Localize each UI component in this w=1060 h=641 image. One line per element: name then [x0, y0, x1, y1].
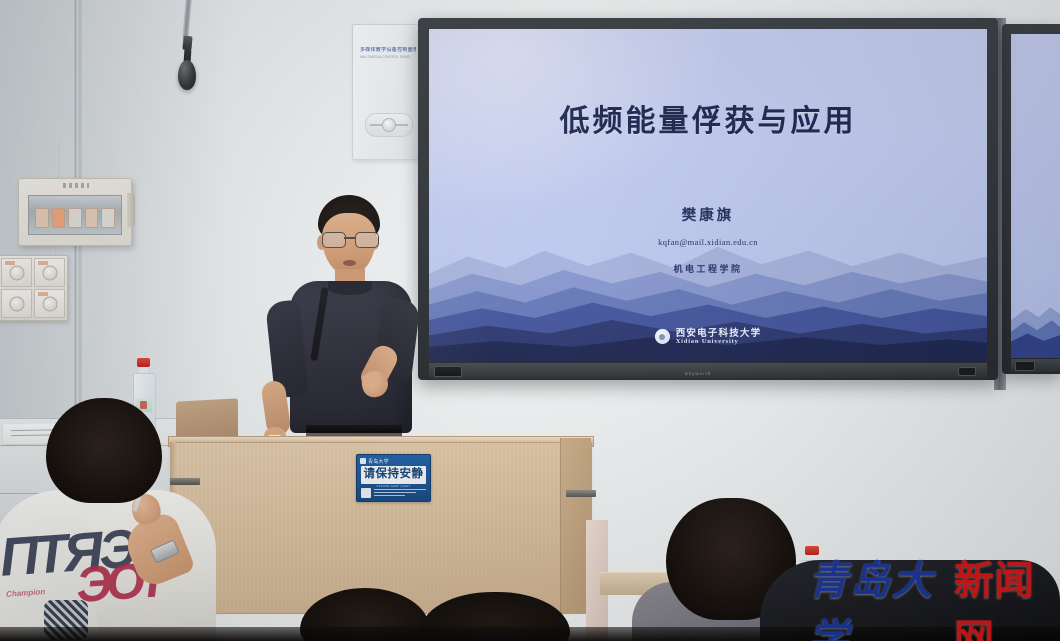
- wall-switch: [1, 258, 32, 287]
- ceiling-microphone-icon: [178, 60, 196, 90]
- slide-author: 樊康旗: [429, 204, 987, 225]
- panel-dial-arm: [370, 124, 408, 126]
- panel-window: [28, 195, 122, 235]
- secondary-mountain-layers: [1011, 260, 1060, 358]
- breaker: [35, 208, 49, 228]
- audience-member-foreground-left: ПТЯЭҮ ЭΟҮ Champion: [0, 398, 220, 641]
- university-emblem-icon: [655, 329, 670, 344]
- breaker: [85, 208, 99, 228]
- notice-line: [374, 489, 426, 491]
- slide-email: kqfan@mail.xidian.edu.cn: [429, 237, 987, 247]
- watermark-newsnet: 新闻网: [954, 548, 1058, 641]
- panel-latch: [127, 193, 135, 227]
- audience-hair: [46, 398, 162, 503]
- switch-bank: [0, 255, 68, 321]
- secondary-display-screen: [1011, 34, 1060, 358]
- notice-emblem-icon: [360, 458, 366, 464]
- control-panel-sublabel: MULTIMEDIA CONTROL PANEL: [360, 55, 416, 59]
- notice-main-banner: 请保持安静: [361, 466, 426, 484]
- presentation-screen: 低频能量俘获与应用 樊康旗 kqfan@mail.xidian.edu.cn 机…: [429, 29, 987, 362]
- circuit-breakers: [35, 208, 115, 228]
- presenter-collar: [328, 281, 372, 295]
- glasses-lens-right: [355, 232, 379, 248]
- notice-line: [374, 495, 405, 497]
- display-brand-label: Skyworth: [685, 371, 712, 376]
- watermark-title-row: 青岛大学 新闻网: [808, 548, 1058, 641]
- breaker: [52, 208, 66, 228]
- display-ir-sensor: [958, 367, 976, 376]
- electrical-panel-box: [18, 178, 132, 246]
- wall-switch: [1, 289, 32, 318]
- main-display[interactable]: 低频能量俘获与应用 樊康旗 kqfan@mail.xidian.edu.cn 机…: [418, 18, 998, 380]
- notice-badge-icon: [361, 488, 371, 498]
- control-panel-label: 多媒体教学设备控制面板: [360, 47, 416, 53]
- finger: [374, 371, 382, 385]
- breaker: [68, 208, 82, 228]
- notice-footer-lines: [374, 489, 426, 497]
- notice-footer: [361, 487, 426, 498]
- breaker: [101, 208, 115, 228]
- glasses-lens-left: [322, 232, 346, 248]
- slide-department: 机电工程学院: [429, 262, 987, 275]
- panel-dial: [365, 113, 413, 137]
- university-logo-text: 西安电子科技大学 Xidian University: [676, 329, 762, 346]
- notice-main-text: 请保持安静: [364, 469, 424, 481]
- university-logo: 西安电子科技大学 Xidian University: [429, 329, 987, 346]
- podium-hinge: [566, 490, 596, 497]
- presenter-glasses: [322, 232, 377, 246]
- news-watermark: 青岛大学 新闻网 http://news.qdu.edu.cn: [808, 548, 1058, 634]
- quiet-notice-sign: 青岛大学 请保持安静 PLEASE KEEP QUIET: [356, 454, 431, 502]
- secondary-display: [1002, 24, 1060, 374]
- wall-switch: [34, 258, 65, 287]
- slide-title: 低频能量俘获与应用: [429, 96, 987, 140]
- wall-switch: [34, 289, 65, 318]
- panel-label: [63, 183, 89, 188]
- presenter-mouth: [343, 260, 356, 266]
- notice-header-text: 青岛大学: [368, 458, 389, 465]
- bottle-cap: [137, 358, 150, 367]
- multimedia-control-panel: 多媒体教学设备控制面板 MULTIMEDIA CONTROL PANEL: [352, 24, 424, 160]
- lecture-photo-scene: 多媒体教学设备控制面板 MULTIMEDIA CONTROL PANEL: [0, 0, 1060, 641]
- secondary-display-ports: [1015, 361, 1035, 371]
- university-name-en: Xidian University: [676, 339, 762, 346]
- notice-line: [374, 492, 416, 494]
- watermark-university: 青岛大学: [808, 548, 954, 641]
- presenter: [250, 195, 465, 455]
- notice-header: 青岛大学: [360, 457, 427, 465]
- glasses-bridge: [344, 237, 355, 239]
